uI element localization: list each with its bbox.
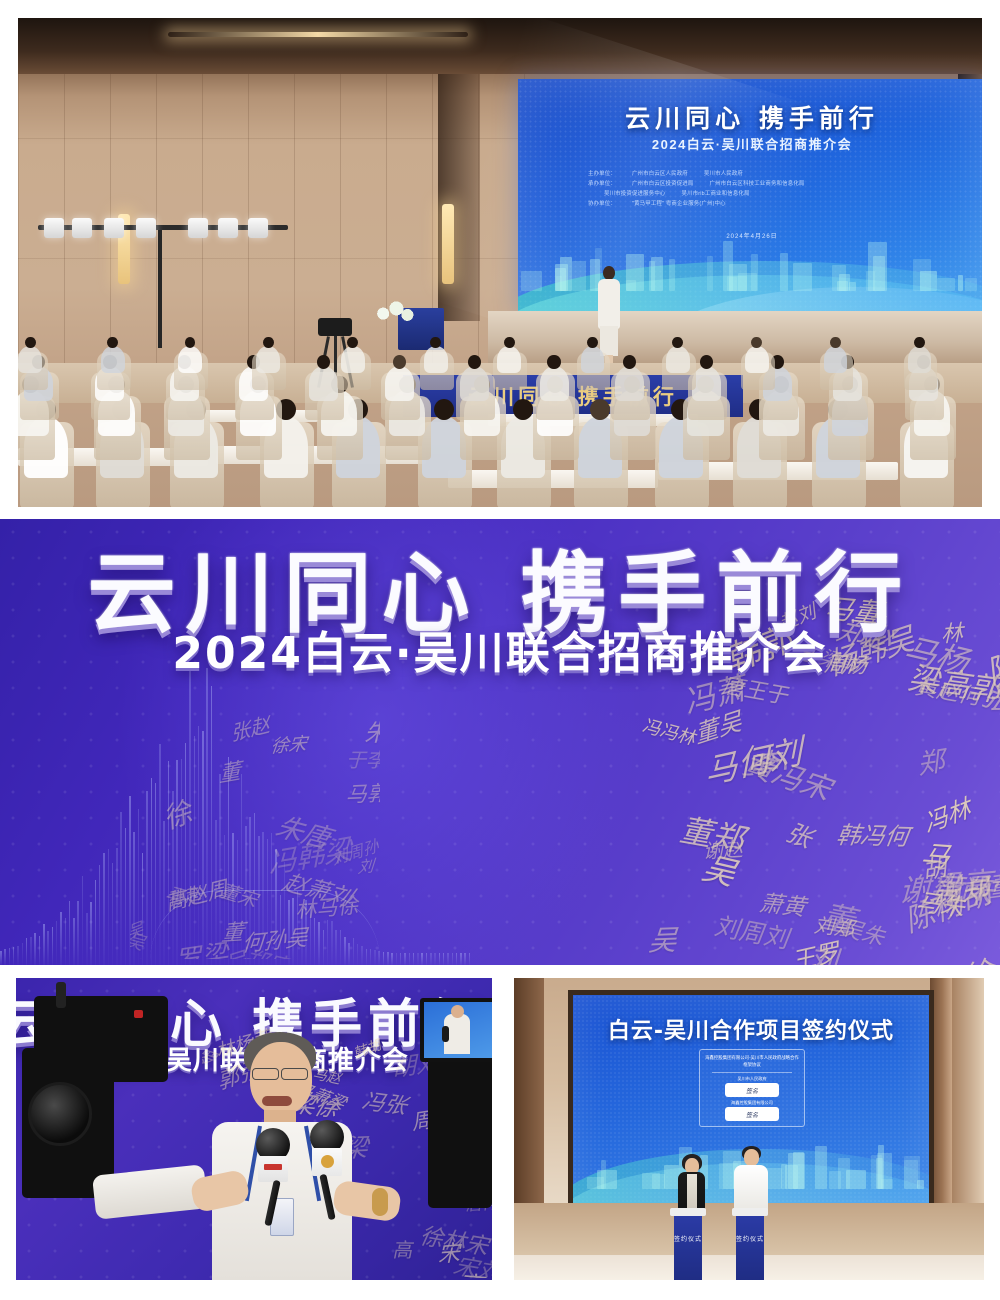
organizer-label-1: 承办单位： — [588, 179, 616, 189]
party-b-label: 海鑫控股集团有限公司 — [700, 1100, 804, 1106]
conference-hall-photo: 云川同心 携手前行 2024白云·吴川联合招商推介会 主办单位：广州市白云区人民… — [18, 18, 982, 507]
party-a-signature-box: 签名 — [725, 1083, 779, 1097]
camera-monitor — [420, 998, 492, 1062]
agreement-title: 海鑫控股集团有限公司-吴川市人民政府战略合作框架协议 — [704, 1054, 800, 1069]
photo-collage-page: 云川同心 携手前行 2024白云·吴川联合招商推介会 主办单位：广州市白云区人民… — [0, 0, 1000, 1300]
led-screen-subtitle: 2024白云·吴川联合招商推介会 — [518, 134, 982, 153]
signature-wall-photo: 于李孙董吴徐宋马郭孙赵冯韩梁罗梁董赵萧刘萧张赵刘董宋吴何孙吴朱唐郑唐林马徐吴高马… — [0, 519, 1000, 965]
camera-record-light — [134, 1010, 143, 1018]
party-b-signature: 签名 — [725, 1110, 779, 1119]
media-interview-photo: 云川同心 携手前行 白云·吴川联合招商推介会 马赵周陈胡韩胡高杨徐孙宋韩宋刘刘孙… — [16, 978, 492, 1280]
organizer-right-1: 广州市白云区科技工业商务和信息化局 — [709, 179, 804, 189]
stage-light-truss — [38, 216, 288, 242]
ceiling — [18, 18, 982, 74]
camera-lens-left — [28, 1082, 92, 1146]
ceiling-light-strip — [168, 32, 468, 37]
organizer-right-0: 吴川市人民政府 — [704, 169, 743, 179]
organizer-left-0: 广州市白云区人民政府 — [632, 169, 688, 179]
organizer-left-3: "黄马甲工程" 粤商企业服务(广州)中心 — [632, 199, 726, 209]
podium-label-left: 签约仪式 — [674, 1236, 702, 1246]
podium-label-right: 签约仪式 — [736, 1236, 764, 1246]
organizer-label-0: 主办单位： — [588, 169, 616, 179]
led-skyline-graphic — [518, 219, 982, 311]
signing-ceremony-photo: 白云-吴川合作项目签约仪式 海鑫控股集团有限公司-吴川市人民政府战略合作框架协议… — [514, 978, 984, 1280]
monitor-screen — [424, 1002, 492, 1058]
organizer-left-1: 广州市白云区投资促进局 — [632, 179, 694, 189]
led-screen: 云川同心 携手前行 2024白云·吴川联合招商推介会 主办单位：广州市白云区人民… — [518, 79, 982, 311]
agreement-card: 海鑫控股集团有限公司-吴川市人民政府战略合作框架协议 吴川市人民政府 签名 海鑫… — [699, 1049, 805, 1127]
flower-arrangement — [370, 298, 414, 324]
ceremony-screen-title: 白云-吴川合作项目签约仪式 — [573, 1013, 929, 1045]
signature-cluster-left: 于李孙董吴徐宋马郭孙赵冯韩梁罗梁董赵萧刘萧张赵刘董宋吴何孙吴朱唐郑唐林马徐吴高马… — [130, 709, 380, 959]
party-a-label: 吴川市人民政府 — [700, 1076, 804, 1082]
banner-subheadline: 2024白云·吴川联合招商推介会 — [0, 617, 1000, 681]
party-b-signature-box: 签名 — [725, 1107, 779, 1121]
ceremony-podium-right: 签约仪式 — [736, 1214, 764, 1280]
wrist-bracelet — [372, 1188, 388, 1216]
organizer-left-2: 吴川市投资促进服务中心 — [604, 189, 666, 199]
led-organizer-block: 主办单位：广州市白云区人民政府吴川市人民政府 承办单位：广州市白云区投资促进局广… — [588, 169, 918, 209]
led-screen-title: 云川同心 携手前行 — [518, 99, 982, 135]
organizer-label-3: 协办单位： — [588, 199, 616, 209]
ceremony-podium-left: 签约仪式 — [674, 1214, 702, 1280]
organizer-right-2: 吴川市rib工商业和信息化局 — [682, 189, 750, 199]
party-a-signature: 签名 — [725, 1086, 779, 1095]
camera-mic-mount — [56, 982, 66, 1008]
